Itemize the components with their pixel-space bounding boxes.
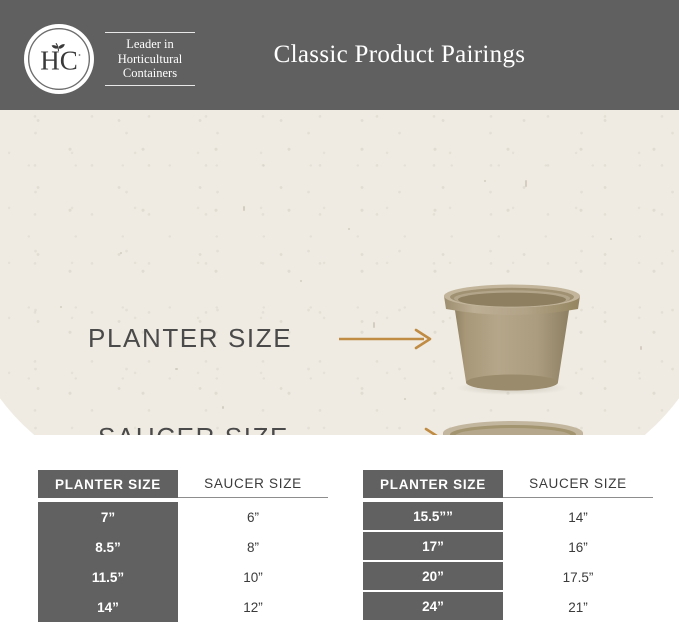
table-row: 17” 16” [363, 532, 653, 562]
cell-saucer-size: 6” [178, 502, 328, 532]
saucer-dish-image [438, 413, 588, 435]
hero-illustration-band: PLANTER SIZE [0, 110, 679, 435]
brand-tagline-line-2: Horticultural [107, 52, 193, 67]
brand-tagline-line-3: Containers [107, 66, 193, 81]
cell-planter-size: 17” [363, 532, 503, 560]
pairing-table-left: PLANTER SIZE SAUCER SIZE 7” 6” 8.5” 8” 1… [38, 470, 328, 636]
table-row: 15.5”” 14” [363, 502, 653, 532]
cell-planter-size: 7” [38, 502, 178, 532]
arrow-right-icon [348, 427, 446, 435]
table-row: 20” 17.5” [363, 562, 653, 592]
table-header-row: PLANTER SIZE SAUCER SIZE [38, 470, 328, 502]
brand-tagline-line-1: Leader in [107, 37, 193, 52]
cell-saucer-size: 10” [178, 562, 328, 592]
cell-saucer-size: 16” [503, 532, 653, 562]
cell-saucer-size: 21” [503, 592, 653, 622]
planter-size-callout-label: PLANTER SIZE [88, 323, 292, 354]
planter-pot-image [436, 278, 588, 401]
table-row: 24” 21” [363, 592, 653, 622]
brand-tagline: Leader in Horticultural Containers [105, 32, 195, 86]
cell-planter-size: 11.5” [38, 562, 178, 592]
svg-text:HC: HC [40, 46, 78, 76]
table-row: 8.5” 8” [38, 532, 328, 562]
cell-planter-size: 15.5”” [363, 502, 503, 530]
table-row: 11.5” 10” [38, 562, 328, 592]
brand-logo: HC Leader in Horticultural Containers [24, 24, 195, 94]
saucer-size-callout-label: SAUCER SIZE [98, 422, 289, 435]
table-row: 7” 6” [38, 502, 328, 532]
column-header-planter-size: PLANTER SIZE [38, 470, 178, 498]
cell-planter-size: 24” [363, 592, 503, 620]
cell-planter-size: 8.5” [38, 532, 178, 562]
cell-saucer-size: 8” [178, 532, 328, 562]
cell-saucer-size: 14” [503, 502, 653, 532]
table-body: 7” 6” 8.5” 8” 11.5” 10” 14” 12” [38, 502, 328, 622]
table-row: 14” 12” [38, 592, 328, 622]
pairing-table-right: PLANTER SIZE SAUCER SIZE 15.5”” 14” 17” … [363, 470, 653, 636]
column-header-planter-size: PLANTER SIZE [363, 470, 503, 498]
cell-planter-size: 14” [38, 592, 178, 622]
column-header-saucer-size: SAUCER SIZE [178, 470, 328, 498]
cell-planter-size: 20” [363, 562, 503, 590]
hc-circle-leaf-logo-icon: HC [24, 24, 94, 94]
cell-saucer-size: 12” [178, 592, 328, 622]
table-header-row: PLANTER SIZE SAUCER SIZE [363, 470, 653, 502]
page-header: HC Leader in Horticultural Containers Cl… [0, 0, 679, 110]
size-pairing-tables: PLANTER SIZE SAUCER SIZE 7” 6” 8.5” 8” 1… [0, 470, 679, 636]
column-header-saucer-size: SAUCER SIZE [503, 470, 653, 498]
arrow-right-icon [338, 328, 436, 355]
cell-saucer-size: 17.5” [503, 562, 653, 592]
table-body: 15.5”” 14” 17” 16” 20” 17.5” 24” 21” [363, 502, 653, 622]
